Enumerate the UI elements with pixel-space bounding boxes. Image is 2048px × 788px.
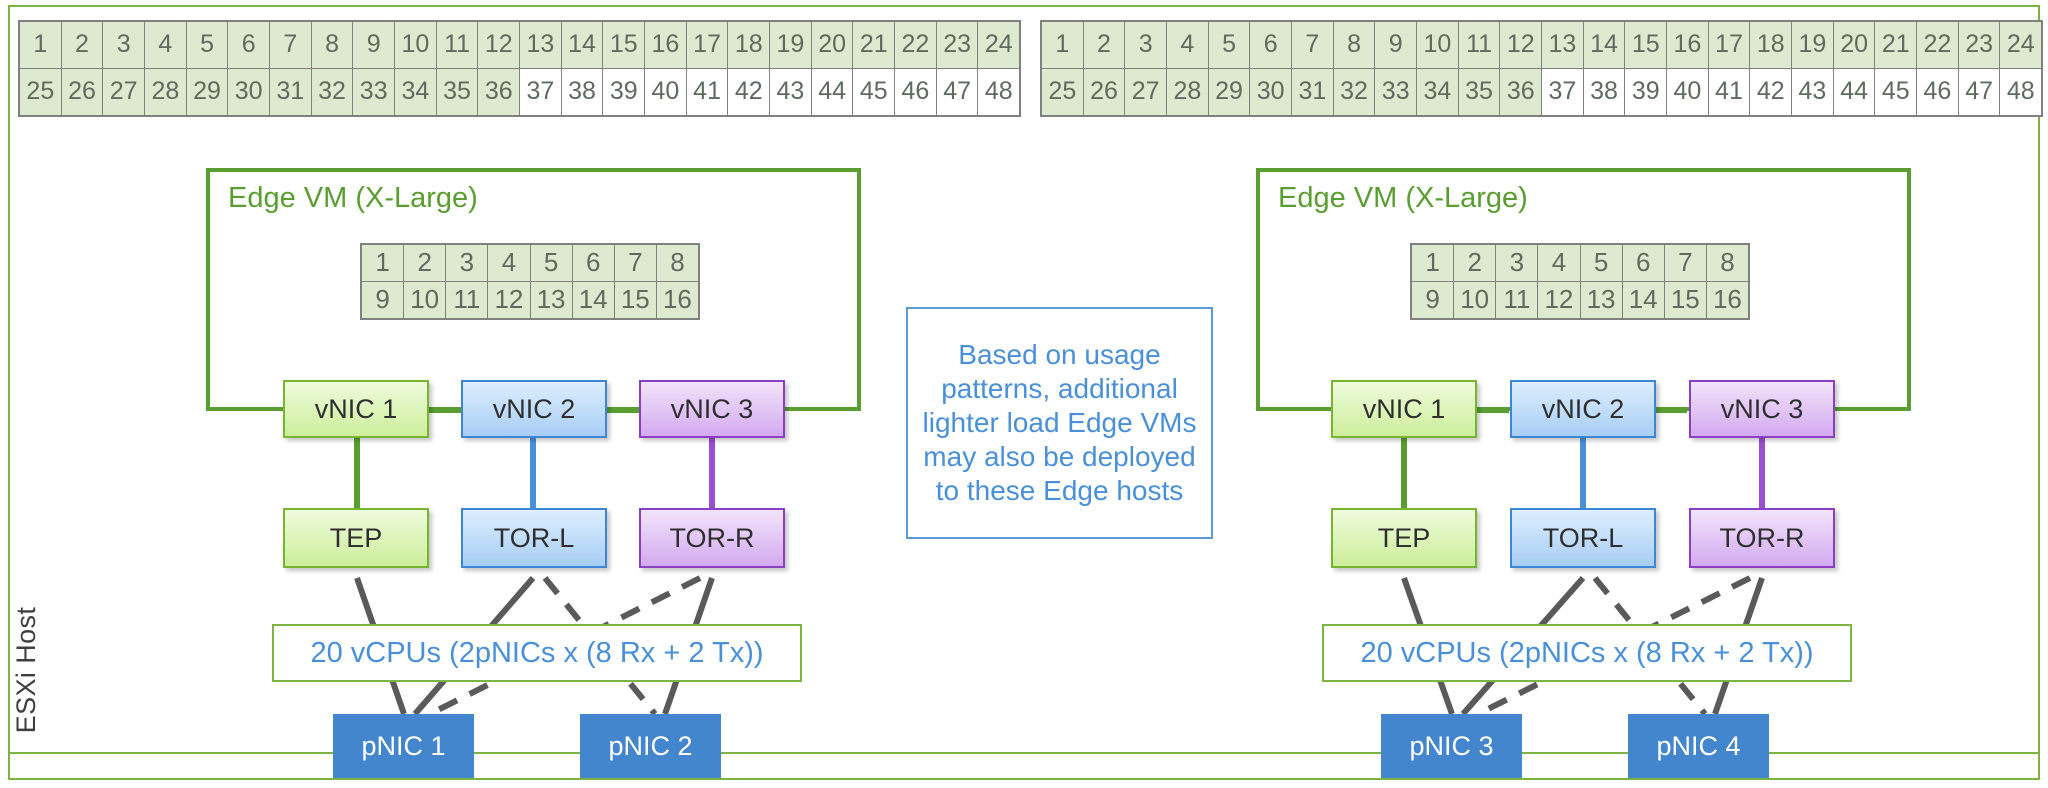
core-cell-33: 33 bbox=[1375, 69, 1417, 116]
vm-core-cell-4: 4 bbox=[488, 245, 530, 282]
core-row-top: 123456789101112131415161718192021222324 bbox=[1042, 22, 2041, 69]
vm-core-row-bottom: 910111213141516 bbox=[362, 282, 698, 319]
vm-core-cell-1: 1 bbox=[1412, 245, 1454, 282]
core-cell-48: 48 bbox=[978, 69, 1019, 116]
core-cell-36: 36 bbox=[1500, 69, 1542, 116]
pnic-3[interactable]: pNIC 3 bbox=[1381, 714, 1522, 778]
vm-core-cell-2: 2 bbox=[404, 245, 446, 282]
core-cell-43: 43 bbox=[770, 69, 812, 116]
core-cell-3: 3 bbox=[103, 22, 145, 69]
core-cell-9: 9 bbox=[353, 22, 395, 69]
core-cell-39: 39 bbox=[1625, 69, 1667, 116]
vm-core-cell-13: 13 bbox=[531, 282, 573, 319]
vm-core-cell-15: 15 bbox=[1665, 282, 1707, 319]
vm-core-cell-11: 11 bbox=[1496, 282, 1538, 319]
core-cell-7: 7 bbox=[1292, 22, 1334, 69]
core-cell-45: 45 bbox=[1875, 69, 1917, 116]
core-cell-29: 29 bbox=[187, 69, 229, 116]
core-cell-40: 40 bbox=[645, 69, 687, 116]
vm-core-cell-9: 9 bbox=[1412, 282, 1454, 319]
vnic-3-right[interactable]: vNIC 3 bbox=[1689, 380, 1835, 438]
usage-pattern-callout: Based on usage patterns, additional ligh… bbox=[906, 307, 1213, 539]
core-cell-44: 44 bbox=[812, 69, 854, 116]
core-cell-41: 41 bbox=[1709, 69, 1751, 116]
edge-vm-core-grid-right: 12345678 910111213141516 bbox=[1410, 243, 1750, 320]
core-cell-28: 28 bbox=[1167, 69, 1209, 116]
core-cell-26: 26 bbox=[62, 69, 104, 116]
core-cell-7: 7 bbox=[270, 22, 312, 69]
core-cell-29: 29 bbox=[1209, 69, 1251, 116]
core-cell-17: 17 bbox=[1709, 22, 1751, 69]
tor-l-left[interactable]: TOR-L bbox=[461, 508, 607, 568]
core-cell-20: 20 bbox=[812, 22, 854, 69]
core-cell-27: 27 bbox=[103, 69, 145, 116]
core-cell-21: 21 bbox=[853, 22, 895, 69]
core-cell-15: 15 bbox=[603, 22, 645, 69]
vnic-3-left[interactable]: vNIC 3 bbox=[639, 380, 785, 438]
core-cell-24: 24 bbox=[978, 22, 1019, 69]
core-row-bottom: 2526272829303132333435363738394041424344… bbox=[20, 69, 1019, 116]
core-cell-38: 38 bbox=[1584, 69, 1626, 116]
edge-vm-title-right: Edge VM (X-Large) bbox=[1278, 182, 1528, 215]
core-row-bottom: 2526272829303132333435363738394041424344… bbox=[1042, 69, 2041, 116]
core-cell-48: 48 bbox=[2000, 69, 2041, 116]
core-cell-1: 1 bbox=[20, 22, 62, 69]
core-cell-22: 22 bbox=[1917, 22, 1959, 69]
core-cell-44: 44 bbox=[1834, 69, 1876, 116]
diagram-canvas: ESXi Host 123456789101112131415161718192… bbox=[0, 0, 2048, 788]
core-cell-20: 20 bbox=[1834, 22, 1876, 69]
core-cell-41: 41 bbox=[687, 69, 729, 116]
vm-core-cell-7: 7 bbox=[1665, 245, 1707, 282]
core-cell-8: 8 bbox=[1334, 22, 1376, 69]
core-cell-32: 32 bbox=[1334, 69, 1376, 116]
core-cell-24: 24 bbox=[2000, 22, 2041, 69]
core-cell-13: 13 bbox=[1542, 22, 1584, 69]
core-cell-11: 11 bbox=[1459, 22, 1501, 69]
core-cell-28: 28 bbox=[145, 69, 187, 116]
core-cell-9: 9 bbox=[1375, 22, 1417, 69]
vcpu-bar-left: 20 vCPUs (2pNICs x (8 Rx + 2 Tx)) bbox=[272, 624, 802, 682]
core-cell-37: 37 bbox=[520, 69, 562, 116]
core-cell-13: 13 bbox=[520, 22, 562, 69]
core-cell-30: 30 bbox=[228, 69, 270, 116]
core-row-top: 123456789101112131415161718192021222324 bbox=[20, 22, 1019, 69]
core-cell-19: 19 bbox=[770, 22, 812, 69]
core-cell-32: 32 bbox=[312, 69, 354, 116]
core-cell-35: 35 bbox=[437, 69, 479, 116]
pnic-1[interactable]: pNIC 1 bbox=[333, 714, 474, 778]
socket-core-grid-left: 123456789101112131415161718192021222324 … bbox=[18, 20, 1021, 117]
core-cell-35: 35 bbox=[1459, 69, 1501, 116]
tor-r-left[interactable]: TOR-R bbox=[639, 508, 785, 568]
vm-core-row-top: 12345678 bbox=[1412, 245, 1748, 282]
vm-core-cell-8: 8 bbox=[1707, 245, 1748, 282]
pnic-2[interactable]: pNIC 2 bbox=[580, 714, 721, 778]
core-cell-12: 12 bbox=[478, 22, 520, 69]
vm-core-cell-1: 1 bbox=[362, 245, 404, 282]
core-cell-10: 10 bbox=[1417, 22, 1459, 69]
vm-core-row-top: 12345678 bbox=[362, 245, 698, 282]
vm-core-cell-8: 8 bbox=[657, 245, 698, 282]
core-cell-15: 15 bbox=[1625, 22, 1667, 69]
core-cell-2: 2 bbox=[1084, 22, 1126, 69]
vm-core-cell-14: 14 bbox=[1623, 282, 1665, 319]
vm-core-cell-16: 16 bbox=[1707, 282, 1748, 319]
core-cell-5: 5 bbox=[187, 22, 229, 69]
vm-core-cell-12: 12 bbox=[488, 282, 530, 319]
core-cell-4: 4 bbox=[1167, 22, 1209, 69]
vm-core-cell-3: 3 bbox=[1496, 245, 1538, 282]
core-cell-25: 25 bbox=[1042, 69, 1084, 116]
core-cell-17: 17 bbox=[687, 22, 729, 69]
core-cell-6: 6 bbox=[228, 22, 270, 69]
core-cell-23: 23 bbox=[937, 22, 979, 69]
vm-core-cell-5: 5 bbox=[1581, 245, 1623, 282]
core-cell-31: 31 bbox=[1292, 69, 1334, 116]
core-cell-23: 23 bbox=[1959, 22, 2001, 69]
vcpu-bar-right: 20 vCPUs (2pNICs x (8 Rx + 2 Tx)) bbox=[1322, 624, 1852, 682]
vm-core-cell-10: 10 bbox=[404, 282, 446, 319]
vm-core-cell-16: 16 bbox=[657, 282, 698, 319]
core-cell-38: 38 bbox=[562, 69, 604, 116]
core-cell-1: 1 bbox=[1042, 22, 1084, 69]
vm-core-cell-5: 5 bbox=[531, 245, 573, 282]
vm-core-cell-13: 13 bbox=[1581, 282, 1623, 319]
vnic-2-right[interactable]: vNIC 2 bbox=[1510, 380, 1656, 438]
core-cell-33: 33 bbox=[353, 69, 395, 116]
core-cell-19: 19 bbox=[1792, 22, 1834, 69]
esxi-host-label: ESXi Host bbox=[0, 650, 136, 690]
core-cell-45: 45 bbox=[853, 69, 895, 116]
vm-core-cell-10: 10 bbox=[1454, 282, 1496, 319]
core-cell-43: 43 bbox=[1792, 69, 1834, 116]
core-cell-40: 40 bbox=[1667, 69, 1709, 116]
socket-core-grid-right: 123456789101112131415161718192021222324 … bbox=[1040, 20, 2043, 117]
vm-core-cell-12: 12 bbox=[1538, 282, 1580, 319]
tep-right[interactable]: TEP bbox=[1331, 508, 1477, 568]
vm-core-cell-11: 11 bbox=[446, 282, 488, 319]
core-cell-22: 22 bbox=[895, 22, 937, 69]
core-cell-14: 14 bbox=[562, 22, 604, 69]
core-cell-31: 31 bbox=[270, 69, 312, 116]
core-cell-5: 5 bbox=[1209, 22, 1251, 69]
core-cell-46: 46 bbox=[1917, 69, 1959, 116]
core-cell-14: 14 bbox=[1584, 22, 1626, 69]
tep-left[interactable]: TEP bbox=[283, 508, 429, 568]
edge-vm-core-grid-left: 12345678 910111213141516 bbox=[360, 243, 700, 320]
vm-core-cell-6: 6 bbox=[1623, 245, 1665, 282]
vm-core-row-bottom: 910111213141516 bbox=[1412, 282, 1748, 319]
core-cell-6: 6 bbox=[1250, 22, 1292, 69]
tor-r-right[interactable]: TOR-R bbox=[1689, 508, 1835, 568]
core-cell-42: 42 bbox=[728, 69, 770, 116]
core-cell-37: 37 bbox=[1542, 69, 1584, 116]
core-cell-34: 34 bbox=[1417, 69, 1459, 116]
vm-core-cell-3: 3 bbox=[446, 245, 488, 282]
core-cell-16: 16 bbox=[645, 22, 687, 69]
tor-l-right[interactable]: TOR-L bbox=[1510, 508, 1656, 568]
core-cell-42: 42 bbox=[1750, 69, 1792, 116]
core-cell-36: 36 bbox=[478, 69, 520, 116]
core-cell-25: 25 bbox=[20, 69, 62, 116]
core-cell-18: 18 bbox=[728, 22, 770, 69]
core-cell-46: 46 bbox=[895, 69, 937, 116]
core-cell-39: 39 bbox=[603, 69, 645, 116]
edge-vm-title-left: Edge VM (X-Large) bbox=[228, 182, 478, 215]
core-cell-26: 26 bbox=[1084, 69, 1126, 116]
core-cell-2: 2 bbox=[62, 22, 104, 69]
core-cell-47: 47 bbox=[937, 69, 979, 116]
vm-core-cell-9: 9 bbox=[362, 282, 404, 319]
vnic-1-left[interactable]: vNIC 1 bbox=[283, 380, 429, 438]
core-cell-11: 11 bbox=[437, 22, 479, 69]
vnic-2-left[interactable]: vNIC 2 bbox=[461, 380, 607, 438]
core-cell-21: 21 bbox=[1875, 22, 1917, 69]
core-cell-27: 27 bbox=[1125, 69, 1167, 116]
core-cell-18: 18 bbox=[1750, 22, 1792, 69]
vm-core-cell-4: 4 bbox=[1538, 245, 1580, 282]
core-cell-4: 4 bbox=[145, 22, 187, 69]
core-cell-30: 30 bbox=[1250, 69, 1292, 116]
vnic-1-right[interactable]: vNIC 1 bbox=[1331, 380, 1477, 438]
vm-core-cell-14: 14 bbox=[573, 282, 615, 319]
core-cell-47: 47 bbox=[1959, 69, 2001, 116]
core-cell-3: 3 bbox=[1125, 22, 1167, 69]
vm-core-cell-6: 6 bbox=[573, 245, 615, 282]
core-cell-12: 12 bbox=[1500, 22, 1542, 69]
core-cell-10: 10 bbox=[395, 22, 437, 69]
vm-core-cell-7: 7 bbox=[615, 245, 657, 282]
core-cell-34: 34 bbox=[395, 69, 437, 116]
core-cell-8: 8 bbox=[312, 22, 354, 69]
vm-core-cell-2: 2 bbox=[1454, 245, 1496, 282]
vm-core-cell-15: 15 bbox=[615, 282, 657, 319]
pnic-4[interactable]: pNIC 4 bbox=[1628, 714, 1769, 778]
core-cell-16: 16 bbox=[1667, 22, 1709, 69]
